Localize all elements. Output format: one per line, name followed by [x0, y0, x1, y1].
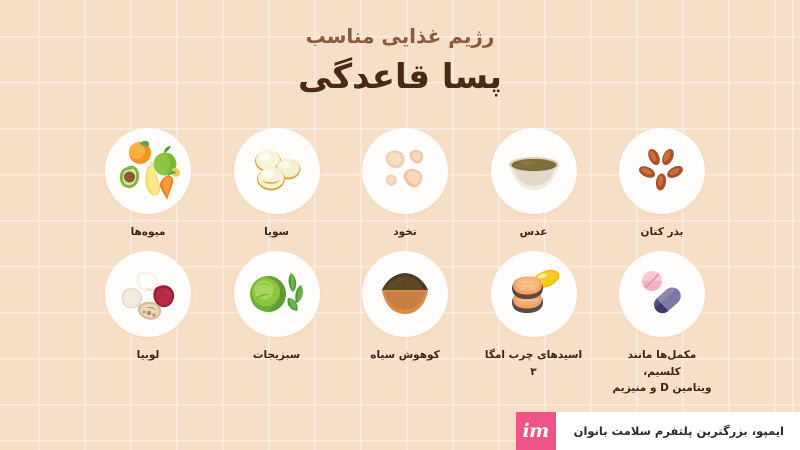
food-item-chickpeas[interactable]: نخود [352, 128, 458, 240]
icon-circle [362, 128, 448, 214]
food-grid-row-2: مکمل‌ها مانند کلسیم، ویتامین D و منیزیم [95, 251, 715, 396]
food-item-label: نخود [393, 224, 416, 240]
food-item-lentils[interactable]: عدس [481, 128, 587, 240]
header-subtitle: رژیم غذایی مناسب [0, 24, 800, 48]
fruits-icon [115, 140, 181, 202]
food-item-label: مکمل‌ها مانند کلسیم، ویتامین D و منیزیم [609, 347, 715, 396]
icon-circle [619, 128, 705, 214]
black-cohosh-powder-bowl-icon [376, 268, 434, 320]
icon-circle [234, 128, 320, 214]
food-item-label: عدس [520, 224, 548, 240]
food-item-label: کوهوش سیاه [370, 347, 439, 363]
icon-circle [105, 251, 191, 337]
icon-circle [619, 251, 705, 337]
food-item-omega3[interactable]: اسیدهای چرب امگا ۳ [481, 251, 587, 380]
food-item-supplements[interactable]: مکمل‌ها مانند کلسیم، ویتامین D و منیزیم [609, 251, 715, 396]
footer-text-container: ایمپو، بزرگترین پلتفرم سلامت بانوان [556, 412, 800, 450]
brand-logo-text: im [522, 420, 548, 442]
food-item-black-cohosh[interactable]: کوهوش سیاه [352, 251, 458, 363]
food-grid-row-1: بذر کتان عدس [95, 128, 715, 240]
icon-circle [234, 251, 320, 337]
brand-logo[interactable]: im [516, 412, 556, 450]
page-title: پسا قاعدگی [0, 56, 800, 99]
food-item-soy[interactable]: سویا [224, 128, 330, 240]
food-item-label: سویا [264, 224, 289, 240]
header: رژیم غذایی مناسب پسا قاعدگی [0, 24, 800, 99]
icon-circle [105, 128, 191, 214]
footer-bar: ایمپو، بزرگترین پلتفرم سلامت بانوان im [516, 412, 800, 450]
vegetables-greens-icon [247, 267, 307, 321]
beans-icon [118, 266, 178, 322]
food-item-beans[interactable]: لوبیا [95, 251, 201, 363]
icon-circle [491, 128, 577, 214]
icon-circle [491, 251, 577, 337]
food-item-label: بذر کتان [641, 224, 684, 240]
soybeans-icon [249, 146, 305, 196]
flaxseed-icon [634, 143, 690, 199]
footer-tagline: ایمپو، بزرگترین پلتفرم سلامت بانوان [574, 424, 784, 438]
lentil-soup-bowl-icon [504, 145, 564, 197]
supplements-pill-capsule-icon [634, 266, 690, 322]
food-item-label: اسیدهای چرب امگا ۳ [481, 347, 587, 380]
chickpeas-icon [377, 145, 433, 197]
food-item-fruits[interactable]: میوه‌ها [95, 128, 201, 240]
infographic-canvas: رژیم غذایی مناسب پسا قاعدگی [0, 0, 800, 450]
food-item-label: سبزیجات [253, 347, 300, 363]
food-grid: بذر کتان عدس [95, 128, 715, 396]
salmon-omega3-icon [504, 266, 564, 322]
icon-circle [362, 251, 448, 337]
food-item-label: میوه‌ها [131, 224, 166, 240]
food-item-flaxseed[interactable]: بذر کتان [609, 128, 715, 240]
food-item-vegetables[interactable]: سبزیجات [224, 251, 330, 363]
food-item-label: لوبیا [137, 347, 160, 363]
